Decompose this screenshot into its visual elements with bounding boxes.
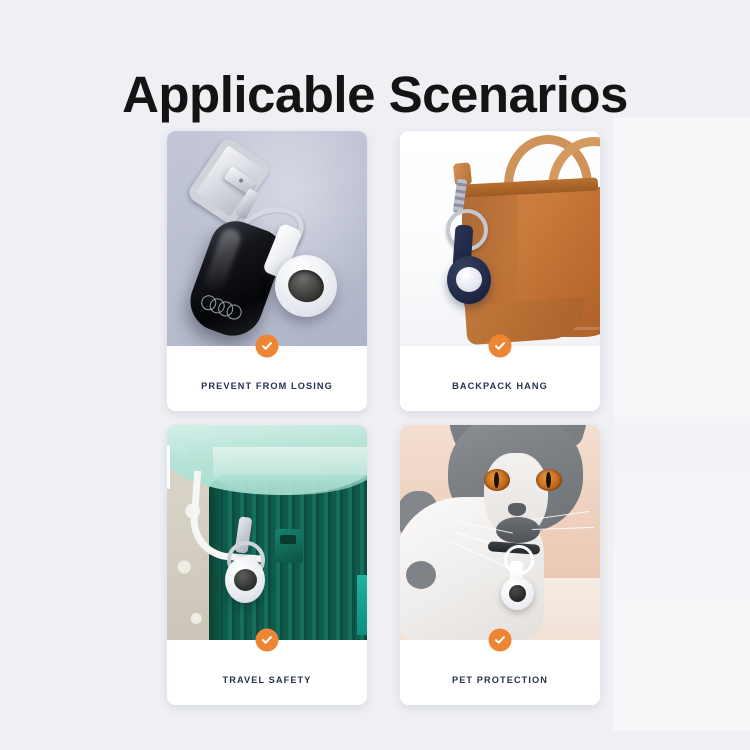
check-badge bbox=[489, 335, 512, 358]
scenario-photo-suitcase bbox=[167, 425, 367, 640]
check-badge bbox=[256, 335, 279, 358]
white-airtag-holder bbox=[225, 557, 265, 603]
bag-shoulder-strap bbox=[465, 297, 587, 345]
scenario-photo-handbag bbox=[400, 131, 600, 346]
scenario-card-travel-safety[interactable]: TRAVEL SAFETY bbox=[167, 425, 367, 705]
card-label: PREVENT FROM LOSING bbox=[201, 381, 333, 391]
background-panel bbox=[613, 118, 750, 730]
page-title: Applicable Scenarios bbox=[0, 65, 750, 124]
card-label: TRAVEL SAFETY bbox=[223, 675, 312, 685]
cat-fur-patch bbox=[406, 561, 436, 589]
cat-nose bbox=[508, 503, 526, 516]
white-airtag-holder bbox=[501, 577, 534, 610]
cat-eye-right bbox=[536, 469, 562, 491]
card-label: BACKPACK HANG bbox=[452, 381, 548, 391]
suitcase-accent-strip bbox=[357, 575, 367, 635]
scenario-photo-car-key bbox=[167, 131, 367, 346]
check-badge bbox=[256, 629, 279, 652]
scenario-card-backpack-hang[interactable]: BACKPACK HANG bbox=[400, 131, 600, 411]
card-label: PET PROTECTION bbox=[452, 675, 548, 685]
check-badge bbox=[489, 629, 512, 652]
audi-rings-logo bbox=[200, 293, 251, 321]
navy-airtag-holder bbox=[447, 256, 491, 304]
scenario-card-grid: PREVENT FROM LOSING BACKPACK HANG bbox=[167, 131, 600, 705]
suitcase-lock bbox=[275, 529, 303, 563]
cat-eye-left bbox=[484, 469, 510, 491]
scenario-card-pet-protection[interactable]: PET PROTECTION bbox=[400, 425, 600, 705]
scenario-card-prevent-from-losing[interactable]: PREVENT FROM LOSING bbox=[167, 131, 367, 411]
umbrella-rib bbox=[167, 445, 170, 489]
scenario-photo-cat bbox=[400, 425, 600, 640]
